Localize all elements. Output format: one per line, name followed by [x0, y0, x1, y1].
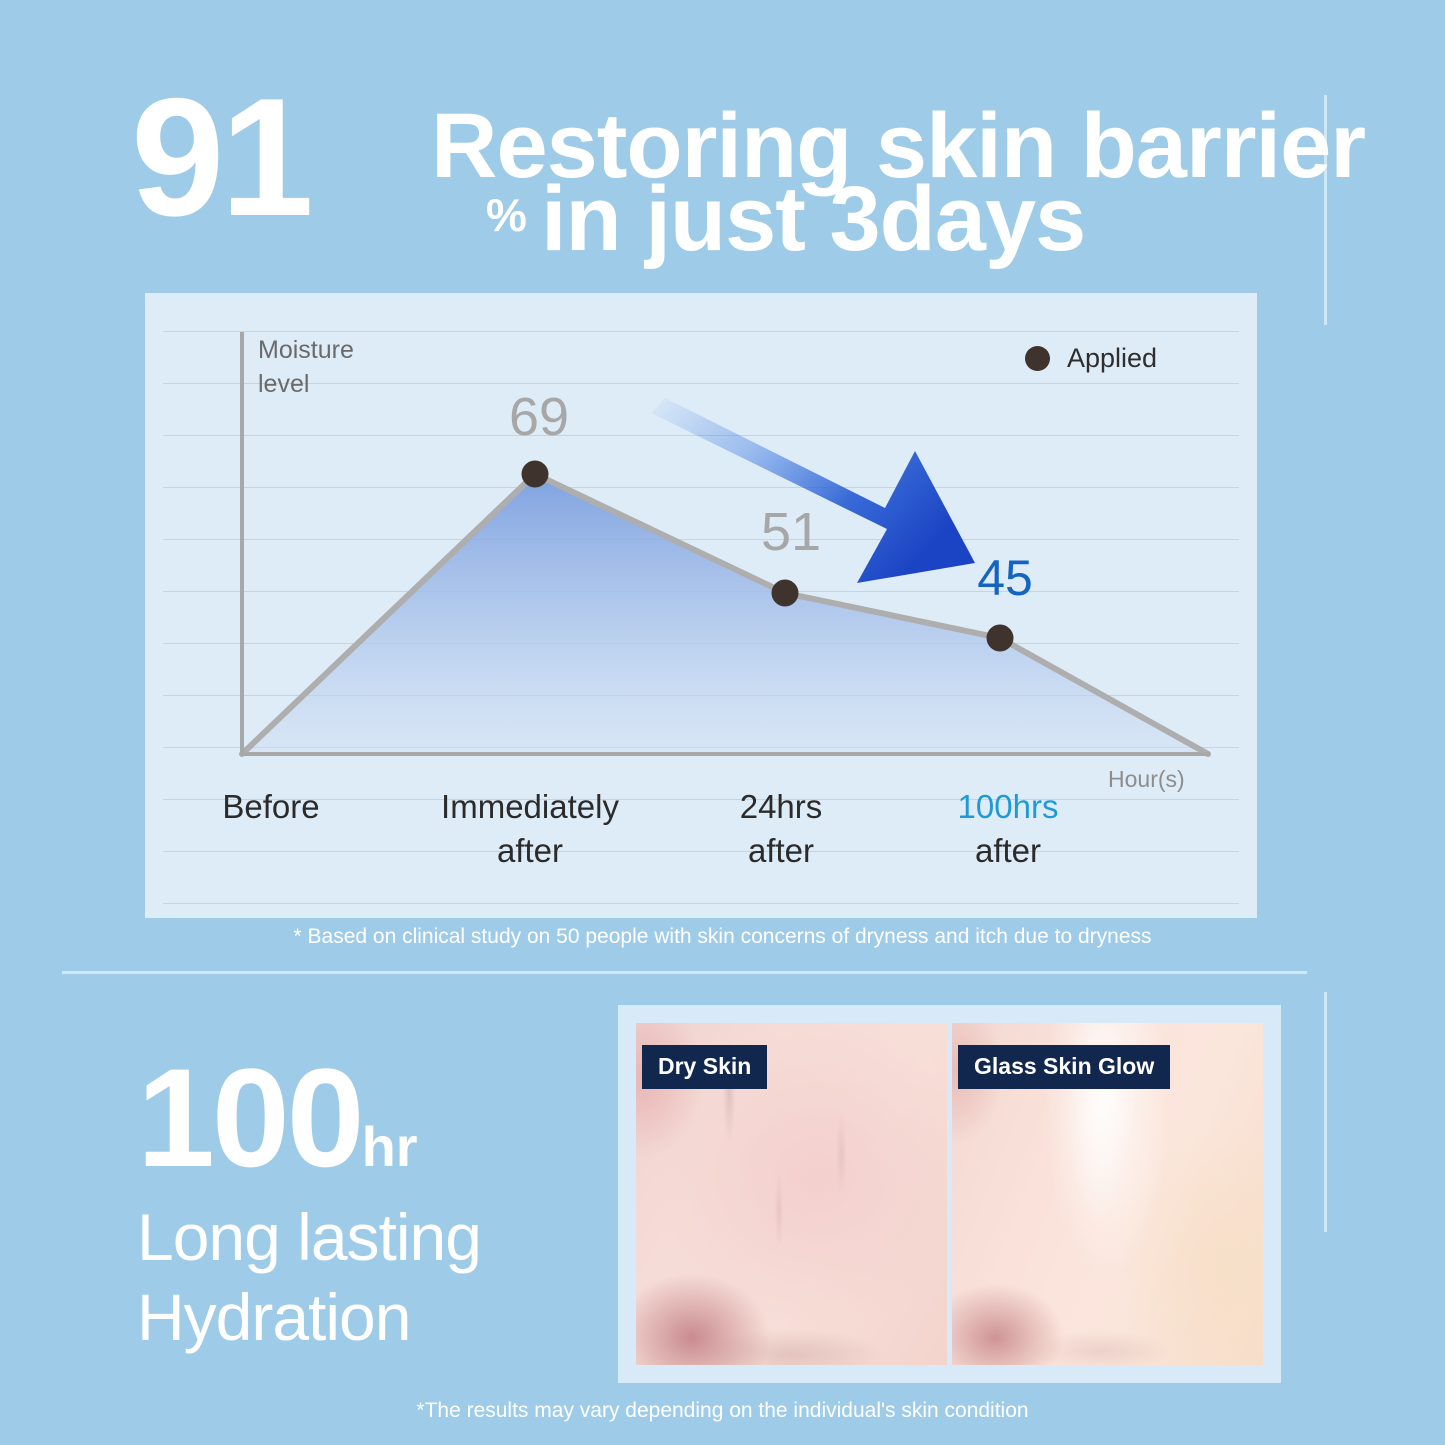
chart-y-axis	[240, 332, 244, 756]
data-label-45: 45	[977, 549, 1033, 607]
claim-line-2: Hydration	[137, 1277, 577, 1357]
claim-number: 100	[137, 1053, 362, 1183]
headline-line-2: in just 3days	[541, 167, 1085, 271]
legend-label-applied: Applied	[1067, 343, 1157, 374]
before-after-photo-panel: Dry Skin Glass Skin Glow	[618, 1005, 1281, 1383]
data-point-immediately-after	[522, 461, 549, 488]
x-tick-immediately-after: Immediately after	[441, 785, 619, 873]
moisture-chart-panel: Moisture level Hour(s) Applied 69 51 45 …	[145, 293, 1257, 918]
hero-section: 91 Restoring skin barrier % in just 3day…	[0, 0, 1445, 972]
x-tick-24hrs-after: 24hrs after	[740, 785, 823, 873]
chart-legend: Applied	[1025, 343, 1157, 374]
x-axis-label: Hour(s)	[1108, 766, 1185, 793]
vertical-divider-bottom	[1324, 992, 1327, 1232]
claim-line-1: Long lasting	[137, 1197, 577, 1277]
after-photo: Glass Skin Glow	[952, 1023, 1263, 1365]
horizontal-section-divider	[62, 971, 1307, 974]
headline-block: 91 Restoring skin barrier % in just 3day…	[131, 82, 1311, 272]
before-photo: Dry Skin	[636, 1023, 947, 1365]
data-point-100hrs-after	[987, 625, 1014, 652]
chart-plot-area: Moisture level Hour(s) Applied 69 51 45 …	[145, 293, 1257, 918]
x-tick-100hrs-after: 100hrs after	[958, 785, 1059, 873]
chart-footnote: * Based on clinical study on 50 people w…	[0, 925, 1445, 949]
comparison-footnote: *The results may vary depending on the i…	[0, 1399, 1445, 1423]
chart-x-axis	[240, 752, 1210, 756]
y-axis-label: Moisture level	[258, 333, 388, 401]
data-label-51: 51	[761, 501, 821, 563]
legend-dot-icon	[1025, 346, 1050, 371]
data-label-69: 69	[509, 386, 569, 448]
after-photo-badge: Glass Skin Glow	[958, 1045, 1170, 1089]
before-photo-badge: Dry Skin	[642, 1045, 767, 1089]
stat-percent-symbol: %	[486, 192, 527, 238]
x-tick-before: Before	[222, 785, 319, 829]
claim-unit: hr	[362, 1114, 418, 1179]
hydration-claim-block: 100hr Long lasting Hydration	[137, 1053, 577, 1357]
stat-number: 91	[131, 82, 310, 232]
data-point-24hrs-after	[772, 580, 799, 607]
